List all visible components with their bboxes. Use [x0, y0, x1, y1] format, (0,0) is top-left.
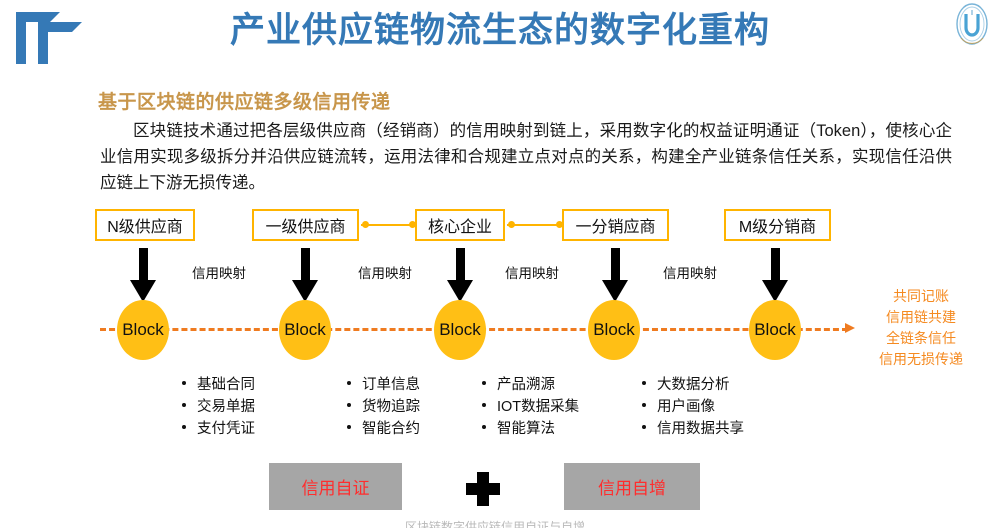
down-arrow-icon-1 [292, 248, 318, 304]
bullet-dot-icon [347, 425, 351, 429]
outcome-item-2: 全链条信任 [852, 328, 990, 349]
list-item-label: 大数据分析 [657, 373, 730, 394]
block-node-3[interactable]: Block [588, 300, 640, 360]
slide-canvas: 产业供应链物流生态的数字化重构 基于区块链的供应链多级信用传递 区块链技术通过把… [0, 0, 990, 528]
list-item-label: 智能合约 [362, 417, 420, 438]
down-arrow-icon-0 [130, 248, 156, 304]
connector-dot-2 [508, 221, 515, 228]
list-item: 智能合约 [347, 416, 420, 438]
list-item: 信用数据共享 [642, 416, 744, 438]
list-item: 支付凭证 [182, 416, 255, 438]
list-item-label: 交易单据 [197, 395, 255, 416]
list-item: 产品溯源 [482, 372, 579, 394]
list-item-label: 支付凭证 [197, 417, 255, 438]
block-node-0[interactable]: Block [117, 300, 169, 360]
mapping-label-0: 信用映射 [192, 262, 246, 282]
list-item-label: 订单信息 [362, 373, 420, 394]
outcome-list: 共同记账信用链共建全链条信任信用无损传递 [852, 286, 990, 370]
list-item: 用户画像 [642, 394, 744, 416]
bullet-dot-icon [482, 381, 486, 385]
mapping-label-1: 信用映射 [358, 262, 412, 282]
list-item-label: 基础合同 [197, 373, 255, 394]
block-node-2[interactable]: Block [434, 300, 486, 360]
down-arrow-icon-3 [602, 248, 628, 304]
bullet-column-0: 基础合同交易单据支付凭证 [182, 372, 255, 438]
bullet-dot-icon [347, 381, 351, 385]
entity-box-1[interactable]: 一级供应商 [252, 209, 359, 241]
bullet-dot-icon [182, 403, 186, 407]
plus-icon [466, 472, 500, 506]
block-node-4[interactable]: Block [749, 300, 801, 360]
list-item: 订单信息 [347, 372, 420, 394]
entity-box-4[interactable]: M级分销商 [724, 209, 831, 241]
bullet-column-2: 产品溯源IOT数据采集智能算法 [482, 372, 579, 438]
list-item-label: 用户画像 [657, 395, 715, 416]
list-item-label: 产品溯源 [497, 373, 555, 394]
callout-box-1[interactable]: 信用自增 [564, 463, 700, 510]
connector-dot-0 [362, 221, 369, 228]
list-item: 交易单据 [182, 394, 255, 416]
outcome-item-0: 共同记账 [852, 286, 990, 307]
mapping-label-3: 信用映射 [663, 262, 717, 282]
bullet-dot-icon [642, 425, 646, 429]
angular-bracket-logo [14, 8, 106, 66]
down-arrow-icon-4 [762, 248, 788, 304]
entity-box-3[interactable]: 一分销应商 [562, 209, 669, 241]
bullet-dot-icon [642, 403, 646, 407]
list-item-label: 货物追踪 [362, 395, 420, 416]
bottom-caption: 区块链数字供应链信用自证与自增 [0, 518, 990, 528]
callout-box-0[interactable]: 信用自证 [269, 463, 402, 510]
body-paragraph: 区块链技术通过把各层级供应商（经销商）的信用映射到链上，采用数字化的权益证明通证… [100, 118, 952, 196]
bullet-dot-icon [482, 425, 486, 429]
list-item-label: 信用数据共享 [657, 417, 744, 438]
bullet-dot-icon [482, 403, 486, 407]
entity-box-0[interactable]: N级供应商 [95, 209, 195, 241]
bullet-column-1: 订单信息货物追踪智能合约 [347, 372, 420, 438]
list-item: 货物追踪 [347, 394, 420, 416]
list-item: IOT数据采集 [482, 394, 579, 416]
section-subtitle: 基于区块链的供应链多级信用传递 [98, 87, 391, 114]
list-item-label: IOT数据采集 [497, 395, 579, 416]
bullet-dot-icon [182, 425, 186, 429]
university-seal-logo [954, 2, 990, 46]
bullet-dot-icon [642, 381, 646, 385]
list-item: 智能算法 [482, 416, 579, 438]
block-node-1[interactable]: Block [279, 300, 331, 360]
mapping-label-2: 信用映射 [505, 262, 559, 282]
list-item: 基础合同 [182, 372, 255, 394]
outcome-item-3: 信用无损传递 [852, 349, 990, 370]
down-arrow-icon-2 [447, 248, 473, 304]
outcome-item-1: 信用链共建 [852, 307, 990, 328]
bullet-column-3: 大数据分析用户画像信用数据共享 [642, 372, 744, 438]
bullet-dot-icon [347, 403, 351, 407]
page-title: 产业供应链物流生态的数字化重构 [150, 8, 850, 54]
entity-box-2[interactable]: 核心企业 [415, 209, 505, 241]
bullet-dot-icon [182, 381, 186, 385]
list-item-label: 智能算法 [497, 417, 555, 438]
list-item: 大数据分析 [642, 372, 744, 394]
